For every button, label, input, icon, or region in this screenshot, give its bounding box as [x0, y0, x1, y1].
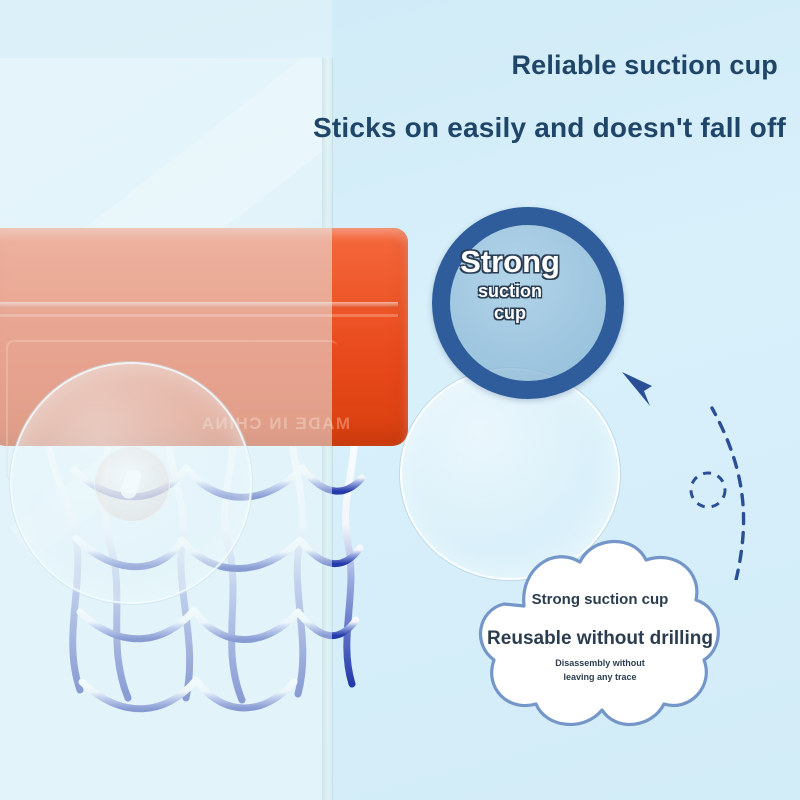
- strong-suction-cup-badge-text: Strong suction cup: [432, 207, 588, 363]
- badge-line-1: Strong: [460, 246, 560, 277]
- callout-line-3: Disassembly without leaving any trace: [555, 657, 645, 685]
- headline-primary: Reliable suction cup: [511, 50, 778, 81]
- cloud-callout: Strong suction cup Reusable without dril…: [470, 528, 730, 748]
- callout-subline-b: leaving any trace: [563, 672, 636, 682]
- promo-image: MADE IN CHINA Strong suction cup Reliabl…: [0, 0, 800, 800]
- headline-secondary: Sticks on easily and doesn't fall off: [313, 112, 786, 144]
- callout-subline-a: Disassembly without: [555, 658, 645, 668]
- suction-cup-nub-left: [119, 467, 143, 500]
- callout-line-2: Reusable without drilling: [487, 628, 713, 650]
- backboard-groove: [0, 302, 398, 308]
- callout-line-1: Strong suction cup: [532, 591, 669, 608]
- backboard-groove-secondary: [0, 314, 398, 317]
- cloud-callout-text: Strong suction cup Reusable without dril…: [470, 528, 730, 748]
- badge-line-3: cup: [494, 302, 526, 325]
- suction-cup-left: [10, 362, 252, 604]
- suction-cup-disc-left: [94, 446, 170, 522]
- badge-line-2: suction: [478, 280, 542, 303]
